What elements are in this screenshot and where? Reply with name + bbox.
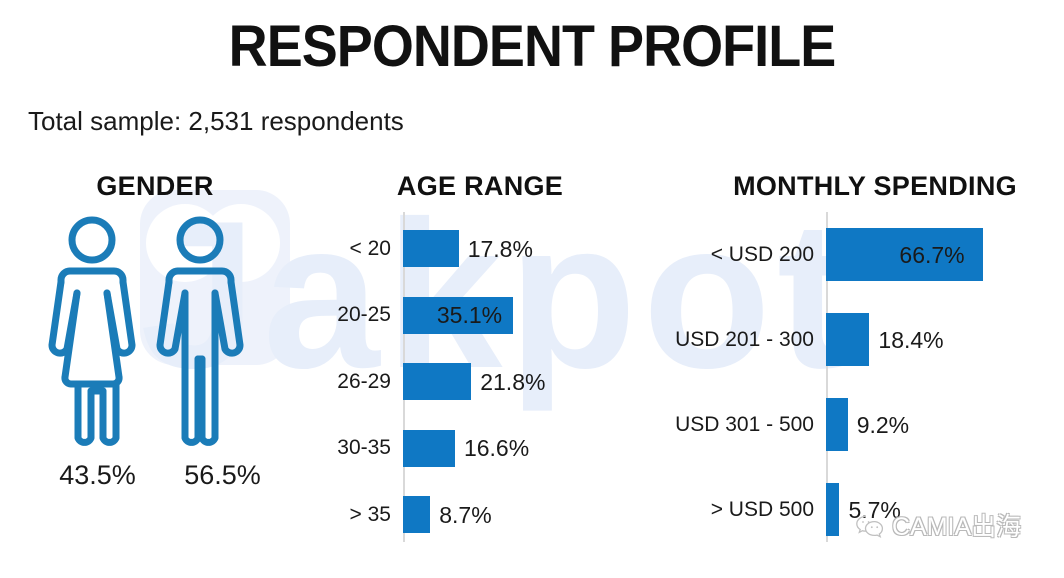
female-icon xyxy=(52,220,132,442)
bar-track: 8.7% xyxy=(403,496,660,533)
bar-value-label: 18.4% xyxy=(869,326,943,354)
bar-row: > 358.7% xyxy=(300,496,660,533)
bar xyxy=(403,363,471,400)
bar-track: 35.1% xyxy=(403,297,660,334)
age-range-heading: AGE RANGE xyxy=(320,170,640,202)
bar-row: < 2017.8% xyxy=(300,230,660,267)
bar-category-label: 26-29 xyxy=(300,369,403,395)
bar-category-label: < USD 200 xyxy=(670,242,826,268)
gender-icons-svg xyxy=(40,212,280,452)
bar-category-label: > 35 xyxy=(300,502,403,528)
bar-row: 26-2921.8% xyxy=(300,363,660,400)
bar-value-label: 16.6% xyxy=(455,434,529,462)
bar-category-label: 30-35 xyxy=(300,435,403,461)
bar-row: 20-2535.1% xyxy=(300,297,660,334)
bar-track: 66.7% xyxy=(826,228,1050,281)
bar xyxy=(826,313,869,366)
bar xyxy=(826,398,848,451)
monthly-spending-chart: < USD 20066.7%USD 201 - 30018.4%USD 301 … xyxy=(670,212,1050,542)
bar-track: 18.4% xyxy=(826,313,1050,366)
bar-category-label: 20-25 xyxy=(300,302,403,328)
camia-watermark: CAMIA出海 xyxy=(855,512,1021,542)
bar-row: USD 301 - 5009.2% xyxy=(670,398,1050,451)
gender-heading: GENDER xyxy=(35,170,275,202)
wechat-icon xyxy=(855,514,885,540)
bar-value-label: 8.7% xyxy=(430,501,491,529)
male-icon xyxy=(160,220,240,442)
page-subtitle: Total sample: 2,531 respondents xyxy=(28,104,404,138)
bar-category-label: > USD 500 xyxy=(670,497,826,523)
bar-category-label: USD 301 - 500 xyxy=(670,412,826,438)
gender-figures xyxy=(40,212,280,452)
bar-value-label: 21.8% xyxy=(471,368,545,396)
page-title: RESPONDENT PROFILE xyxy=(37,16,1027,78)
bar-value-label: 17.8% xyxy=(459,235,533,263)
bar xyxy=(403,430,455,467)
bar-row: 30-3516.6% xyxy=(300,430,660,467)
bar xyxy=(826,483,839,536)
camia-label: CAMIA出海 xyxy=(892,512,1021,542)
bar-track: 16.6% xyxy=(403,430,660,467)
monthly-spending-heading: MONTHLY SPENDING xyxy=(700,170,1050,202)
bar-row: USD 201 - 30018.4% xyxy=(670,313,1050,366)
bar-value-label: 9.2% xyxy=(848,411,909,439)
bar-value-label: 66.7% xyxy=(899,241,964,269)
bar-track: 21.8% xyxy=(403,363,660,400)
bar-category-label: < 20 xyxy=(300,236,403,262)
gender-value-female: 43.5% xyxy=(35,458,160,498)
age-range-chart: < 2017.8%20-2535.1%26-2921.8%30-3516.6%>… xyxy=(300,212,660,542)
bar xyxy=(403,496,430,533)
bar-value-label: 35.1% xyxy=(437,301,502,329)
bar-track: 17.8% xyxy=(403,230,660,267)
bar xyxy=(403,230,459,267)
bar-track: 9.2% xyxy=(826,398,1050,451)
bar-row: < USD 20066.7% xyxy=(670,228,1050,281)
bar-category-label: USD 201 - 300 xyxy=(670,327,826,353)
gender-value-male: 56.5% xyxy=(160,458,285,498)
gender-values: 43.5% 56.5% xyxy=(35,458,285,498)
slide-canvas: Jakpot RESPONDENT PROFILE Total sample: … xyxy=(0,0,1064,578)
